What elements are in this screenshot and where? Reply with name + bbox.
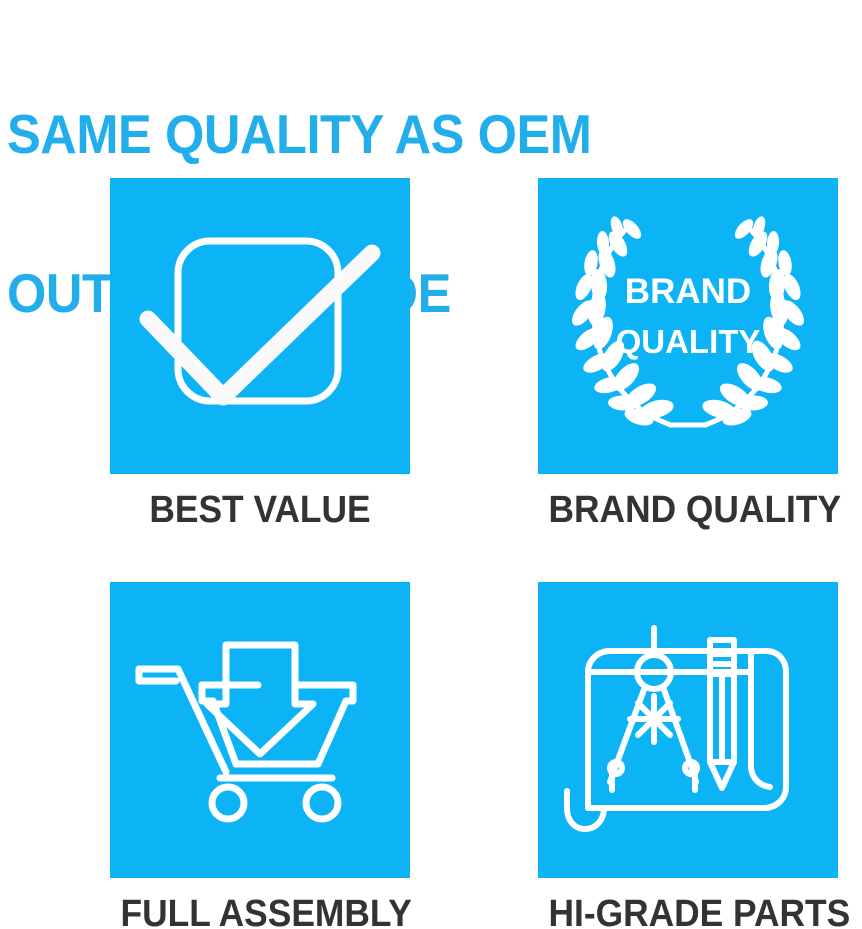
blueprint-compass-pencil-icon — [538, 582, 838, 878]
feature-row-2: FULL ASSEMBLY — [0, 582, 862, 929]
wreath-text-quality: QUALITY — [616, 323, 761, 360]
shopping-cart-download-icon — [110, 582, 410, 878]
checkbox-check-icon — [110, 178, 410, 474]
headline-line-1: SAME QUALITY AS OEM — [7, 108, 789, 161]
feature-label: BEST VALUE — [121, 488, 400, 532]
feature-grid: BEST VALUE — [0, 178, 862, 929]
feature-tile: BRAND QUALITY — [538, 178, 838, 474]
promo-banner: SAME QUALITY AS OEM OUTSIDE + INSIDE BES… — [0, 0, 862, 929]
wreath-text-brand: BRAND — [625, 272, 751, 311]
feature-full-assembly[interactable]: FULL ASSEMBLY — [110, 582, 410, 929]
feature-label: BRAND QUALITY — [549, 488, 828, 532]
feature-label: FULL ASSEMBLY — [121, 892, 400, 929]
feature-label: HI-GRADE PARTS — [549, 892, 828, 929]
laurel-wreath-icon: BRAND QUALITY — [538, 178, 838, 474]
feature-tile — [538, 582, 838, 878]
feature-row-1: BEST VALUE — [0, 178, 862, 582]
feature-tile — [110, 582, 410, 878]
feature-brand-quality[interactable]: BRAND QUALITY BRAND QUALITY — [538, 178, 838, 532]
feature-hi-grade-parts[interactable]: HI-GRADE PARTS — [538, 582, 838, 929]
feature-best-value[interactable]: BEST VALUE — [110, 178, 410, 532]
feature-tile — [110, 178, 410, 474]
